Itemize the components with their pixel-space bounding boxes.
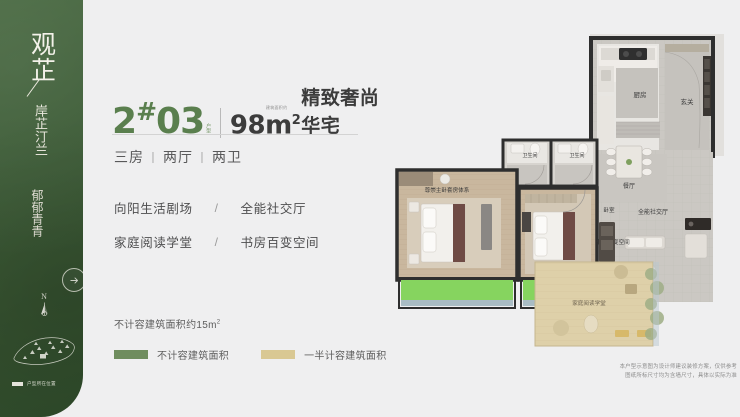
room-label-bathroom-1: 卫生间 [522, 152, 537, 159]
room-label-foyer: 玄关 [681, 97, 695, 106]
uncounted-area-sup: 2 [217, 320, 221, 326]
feature-row: 向阳生活剧场 / 全能社交厅 [114, 198, 319, 217]
site-map-illustration [10, 328, 78, 370]
brand-subtitle: 岸芷汀兰 [31, 104, 48, 182]
sitemap-legend-label: 户型所在位置 [27, 381, 56, 387]
unit-area: 98m2 [230, 107, 300, 140]
area-legend: 不计容建筑面积 一半计容建筑面积 [114, 347, 387, 362]
unit-code-hash: # [136, 97, 156, 126]
compass-north-icon: N [34, 292, 54, 316]
feature-right: 全能社交厅 [241, 198, 307, 217]
room-summary-2: 两卫 [212, 149, 242, 165]
room-label-reading-hall: 家庭阅读学堂 [572, 299, 606, 307]
room-sep-1: 丨 [147, 151, 160, 165]
room-sep-2: 丨 [196, 151, 209, 165]
brand-name: 观芷 [27, 22, 57, 92]
feature-left: 家庭阅读学堂 [114, 232, 193, 251]
headline-slogan: 精致奢尚华宅 [301, 84, 392, 140]
brand-sidebar: 观芷 岸芷汀兰 郁郁青青 N [0, 0, 83, 417]
floor-plan[interactable]: 厨房 玄关 餐厅 全能社交厅 [385, 22, 735, 352]
disclaimer-line-2: 图纸所标尺寸均为含墙尺寸，具体以实际为准 [492, 372, 737, 381]
feature-row: 家庭阅读学堂 / 书房百变空间 [114, 232, 319, 251]
room-label-kitchen: 厨房 [634, 90, 647, 99]
disclaimer-line-1: 本户型示意图为设计师建议装修方案，仅供参考 [492, 363, 737, 372]
room-label-master-suite: 尊崇主卧套房体系 [425, 186, 470, 194]
area-caption: 建筑面积约 [266, 105, 288, 111]
unit-area-value: 98m [230, 111, 292, 141]
disclaimer: 本户型示意图为设计师建议装修方案，仅供参考 图纸所标尺寸均为含墙尺寸，具体以实际… [492, 363, 737, 381]
feature-slash: / [215, 235, 219, 249]
room-summary-1: 两厅 [163, 149, 193, 165]
room-label-bedroom: 卧室 [603, 206, 615, 214]
uncounted-area-note: 不计容建筑面积约15m2 [114, 316, 220, 331]
uncounted-area-text: 不计容建筑面积约15m [114, 320, 217, 331]
poster-root: 观芷 岸芷汀兰 郁郁青青 N [0, 0, 740, 417]
legend-item-half: 一半计容建筑面积 [261, 347, 386, 362]
room-label-social-hall: 全能社交厅 [638, 208, 668, 216]
unit-code-number: 03 [156, 101, 204, 142]
title-row: 2#03 户型 建筑面积约 98m2 精致奢尚华宅 [112, 84, 392, 140]
room-summary-0: 三房 [114, 149, 144, 165]
legend-label-uncounted: 不计容建筑面积 [157, 347, 229, 362]
info-panel: 2#03 户型 建筑面积约 98m2 精致奢尚华宅 三房丨两厅丨两卫 向阳生活剧… [112, 0, 392, 417]
legend-swatch-green [114, 350, 148, 359]
feature-right: 书房百变空间 [241, 232, 320, 251]
legend-swatch-tan [261, 350, 295, 359]
compass-label: N [34, 292, 54, 301]
sitemap-legend: 户型所在位置 [12, 381, 56, 387]
floor-plan-svg: 厨房 玄关 餐厅 全能社交厅 [385, 22, 735, 352]
brand-tagline: 郁郁青青 [29, 189, 45, 259]
room-label-bathroom-2: 卫生间 [569, 152, 584, 159]
unit-code-building: 2 [112, 101, 136, 142]
feature-list: 向阳生活剧场 / 全能社交厅 家庭阅读学堂 / 书房百变空间 [114, 198, 319, 266]
legend-item-uncounted: 不计容建筑面积 [114, 347, 229, 362]
feature-slash: / [215, 201, 219, 215]
feature-left: 向阳生活剧场 [114, 198, 193, 217]
arrow-right-circle-icon[interactable] [62, 268, 83, 292]
title-underline [112, 134, 358, 135]
sitemap-legend-swatch [12, 382, 23, 386]
room-label-dining: 餐厅 [623, 182, 635, 190]
legend-label-half: 一半计容建筑面积 [304, 347, 386, 362]
room-summary: 三房丨两厅丨两卫 [114, 147, 242, 167]
unit-area-sup: 2 [292, 113, 301, 128]
area-wrap: 建筑面积约 98m2 [230, 107, 300, 140]
